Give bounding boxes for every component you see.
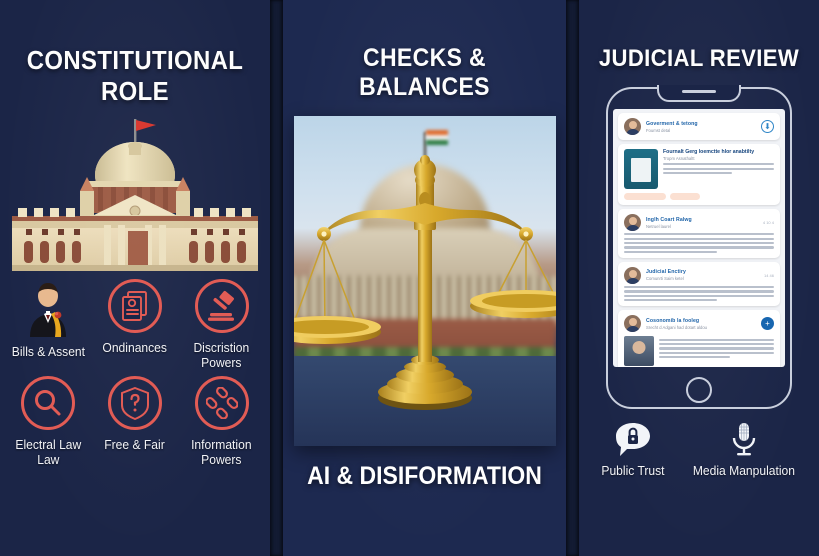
list-item[interactable]: Inglh Coart Ralwg Netruel laurel 4 10 4 [618,209,780,258]
panel-left-heading: CONSTITUTIONAL ROLE [11,45,259,107]
feed-subtitle: Netruel laurel [646,224,692,229]
phone-notch [657,85,741,102]
portrait-photo [624,336,654,366]
icon-item-electoral-law[interactable]: Electral Law Law [6,376,91,467]
icon-label: Electral Law Law [9,437,88,467]
icon-item-ordinances[interactable]: Ondinances [93,279,178,370]
gavel-icon [195,279,249,333]
magnifier-icon [21,376,75,430]
avatar [624,118,641,135]
right-icon-row: Public Trust Media Manpulation [579,421,819,478]
feed-item-header[interactable]: Goverment & tetong Foumst detal ⬇ [618,113,780,140]
panel-judicial-review: JUDICIAL REVIEW Goverment & tetong Foums… [579,0,819,556]
avatar [624,214,641,231]
icon-label: Free & Fair [105,437,165,452]
icon-item-public-trust[interactable]: Public Trust [599,421,667,478]
speech-bubble-lock-icon [613,421,653,457]
panel-divider-right [566,0,579,556]
feed-subtitle: Foumst detal [646,128,698,133]
icon-label: Media Manpulation [693,463,795,478]
panel-divider-left [270,0,283,556]
building-svg [4,113,266,271]
icon-label: Bills & Assent [12,344,85,359]
chip-row [624,193,774,200]
feed-subtitle: Comunrti Saim ketel [646,276,686,281]
panel-center-heading: CHECKS & BALANCES [294,44,554,102]
microphone-icon [728,421,760,457]
icon-label: Public Trust [601,463,664,478]
feed-author: Inglh Coart Ralwg [646,217,692,223]
panel-constitutional-role: CONSTITUTIONAL ROLE [0,0,270,556]
feed-author: Cosonomib la fooleg [646,318,707,324]
list-item[interactable]: Judicial Enctiry Comunrti Saim ketel 14 … [618,262,780,307]
feed-title: Fournalt Gerg loemctte hlor anabtilty [663,149,774,155]
feed-author: Goverment & tetong [646,121,698,127]
left-icon-grid: Bills & Assent Ondinances [0,273,270,467]
smartphone-mockup: Goverment & tetong Foumst detal ⬇ Fourna… [606,87,792,409]
add-circle-icon[interactable]: + [761,317,774,330]
phone-home-button[interactable] [686,377,712,403]
panel-checks-balances: CHECKS & BALANCES [283,0,566,556]
icon-item-bills-assent[interactable]: Bills & Assent [6,279,91,370]
infographic-board: CONSTITUTIONAL ROLE [0,0,819,556]
icon-item-discretion-powers[interactable]: Discristion Powers [179,279,264,370]
phone-screen: Goverment & tetong Foumst detal ⬇ Fourna… [613,109,785,367]
shield-question-icon [108,376,162,430]
icon-label: Ondinances [103,340,168,355]
download-icon[interactable]: ⬇ [761,120,774,133]
chip-two[interactable] [670,193,700,200]
timestamp: 4 10 4 [763,220,774,225]
timestamp: 14 46 [764,273,774,278]
panel-center-caption: AI & DISIFORMATION [294,462,554,491]
feed-subtitle: Tropm Asnathaltt [663,156,774,161]
book-cover-thumbnail [624,149,658,189]
president-figure-icon [18,279,78,337]
list-item[interactable]: Cosonomib la fooleg Srecht d Adgani had … [618,310,780,367]
panel-right-heading: JUDICIAL REVIEW [589,45,810,73]
broken-chain-icon [195,376,249,430]
feed-subtitle: Srecht d Adgani had dotart aldou [646,325,707,330]
feed-author: Judicial Enctiry [646,269,686,275]
chip-one[interactable] [624,193,666,200]
avatar [624,267,641,284]
avatar [624,315,641,332]
icon-label: Discristion Powers [182,340,261,370]
list-item[interactable]: Fournalt Gerg loemctte hlor anabtilty Tr… [618,144,780,205]
icon-item-information-powers[interactable]: Information Powers [179,376,264,467]
icon-item-free-fair[interactable]: Free & Fair [93,376,178,467]
scales-of-justice-photo [294,116,556,446]
balance-scale-graphic [294,116,556,446]
phone-speaker [682,90,716,93]
ordinance-document-icon [108,279,162,333]
rashtrapati-bhavan-illustration [0,113,270,273]
icon-item-media-manipulation[interactable]: Media Manpulation [689,421,799,478]
icon-label: Information Powers [182,437,261,467]
